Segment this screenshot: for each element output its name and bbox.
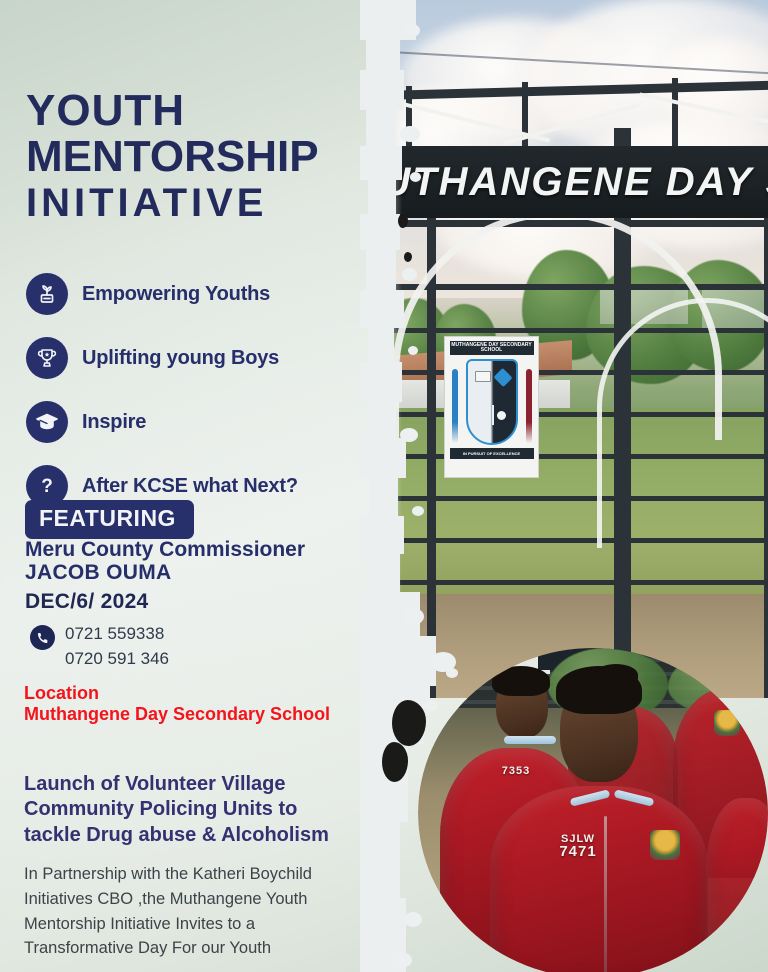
school-crest-plaque: MUTHANGENE DAY SECONDARY SCHOOL IN PURSU… (444, 336, 539, 478)
location-label: Location (24, 683, 99, 703)
location-block: Location Muthangene Day Secondary School (24, 683, 414, 724)
plant-sprout-icon (26, 273, 68, 315)
featuring-badge: FEATURING (25, 500, 194, 539)
bullet-label: Empowering Youths (82, 283, 270, 306)
title-line-1: YOUTH (26, 90, 406, 132)
partnership-line-3: Mentorship Initiative Invites to a (24, 912, 376, 937)
event-date: DEC/6/ 2024 (25, 590, 149, 614)
crest-shield (466, 359, 518, 445)
featured-guest-role: Meru County Commissioner (25, 538, 305, 561)
bullet-label: Inspire (82, 411, 146, 434)
page-title: YOUTH MENTORSHIP INITIATIVE (26, 90, 406, 223)
school-gate-photo: MUTHANGENE DAY SECOND MUTHANGENE DAY SEC… (372, 0, 768, 698)
partnership-paragraph: In Partnership with the Katheri Boychild… (24, 862, 376, 961)
phone-numbers[interactable]: 0721 559338 0720 591 346 (65, 622, 169, 671)
trophy-icon (26, 337, 68, 379)
student-number-back: 7353 (496, 766, 536, 777)
feature-bullet-list: Empowering Youths Uplifting young Boys (26, 262, 406, 518)
gate-arch-secondary (597, 298, 768, 548)
headline-line-3: tackle Drug abuse & Alcoholism (24, 823, 384, 848)
crest-pen-blue (452, 369, 458, 443)
students-photo: 7353 SJLW 7471 (418, 648, 768, 972)
svg-text:?: ? (41, 476, 53, 497)
bullet-label: Uplifting young Boys (82, 347, 279, 370)
phone-number-1[interactable]: 0721 559338 (65, 622, 169, 647)
crest-pen-red (526, 369, 532, 443)
title-line-2: MENTORSHIP (26, 136, 406, 178)
bullet-uplifting-young-boys: Uplifting young Boys (26, 326, 406, 390)
bullet-label: After KCSE what Next? (82, 475, 298, 498)
crest-motto-ribbon: IN PURSUIT OF EXCELLENCE (450, 448, 534, 459)
graduation-cap-icon (26, 401, 68, 443)
title-line-3: INITIATIVE (26, 184, 406, 222)
partnership-line-1: In Partnership with the Katheri Boychild (24, 862, 376, 887)
featured-guest: Meru County Commissioner JACOB OUMA (25, 538, 405, 584)
bullet-empowering-youths: Empowering Youths (26, 262, 406, 326)
poster-canvas: MUTHANGENE DAY SECOND MUTHANGENE DAY SEC… (0, 0, 768, 972)
phone-number-2[interactable]: 0720 591 346 (65, 647, 169, 672)
student-number-front: 7471 (556, 846, 600, 857)
location-venue: Muthangene Day Secondary School (24, 704, 414, 725)
gate-signboard: MUTHANGENE DAY SECOND (372, 146, 768, 218)
partnership-line-4: Transformative Day For our Youth (24, 936, 376, 961)
gate-sign-text: MUTHANGENE DAY SECOND (372, 160, 768, 205)
phone-icon (30, 625, 55, 650)
headline-line-2: Community Policing Units to (24, 797, 384, 822)
content-column: YOUTH MENTORSHIP INITIATIVE Empowering Y… (0, 0, 420, 972)
featured-guest-name: JACOB OUMA (25, 561, 405, 584)
contact-block: 0721 559338 0720 591 346 (30, 622, 169, 671)
crest-top-ribbon: MUTHANGENE DAY SECONDARY SCHOOL (450, 341, 534, 355)
bullet-inspire: Inspire (26, 390, 406, 454)
partnership-line-2: Initiatives CBO ,the Muthangene Youth (24, 887, 376, 912)
event-headline: Launch of Volunteer Village Community Po… (24, 772, 384, 848)
headline-line-1: Launch of Volunteer Village (24, 772, 384, 797)
